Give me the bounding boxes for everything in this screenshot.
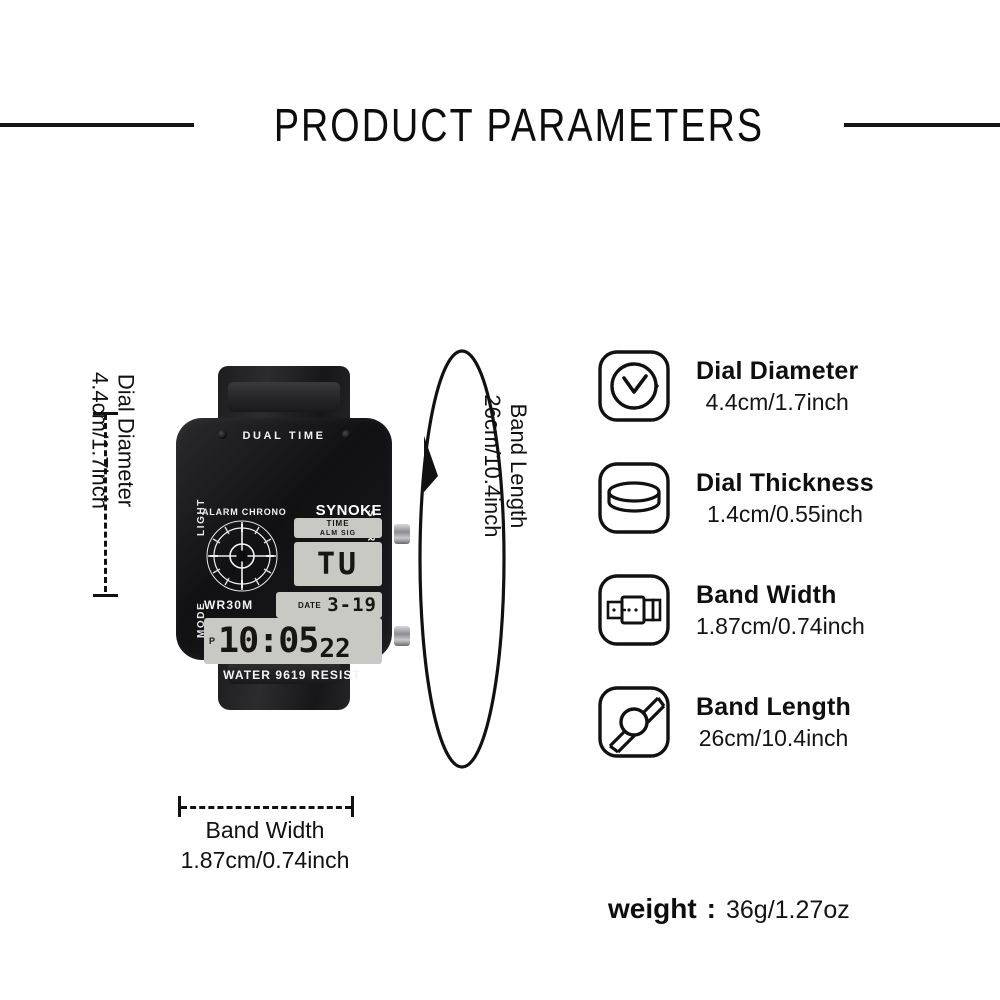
weight-label: weight <box>608 893 697 925</box>
band-width-callout-value: 1.87cm/0.74inch <box>140 846 390 876</box>
spec-title-band-width: Band Width <box>696 580 865 610</box>
water-rating-label: WR30M <box>204 598 253 612</box>
title-rule-right <box>844 123 1000 127</box>
spec-value-dial-thickness: 1.4cm/0.55inch <box>696 501 874 529</box>
dimension-cap-right <box>351 796 354 817</box>
spec-text-band-length: Band Length 26cm/10.4inch <box>696 692 851 753</box>
band-width-dimension-line <box>178 798 354 818</box>
water-resist-label: WATER 9619 RESIST <box>202 668 382 682</box>
spec-value-dial-diameter: 4.4cm/1.7inch <box>696 389 858 417</box>
band-width-callout-title: Band Width <box>140 816 390 846</box>
lcd-alarm-label: ALM SIG <box>320 530 356 537</box>
spec-title-dial-diameter: Dial Diameter <box>696 356 858 386</box>
title-rule-left <box>0 123 194 127</box>
lcd-mode-bar: TIME ALM SIG <box>294 518 382 538</box>
spec-value-band-length: 26cm/10.4inch <box>696 725 851 753</box>
watch-product-image: DUAL TIME EL LUMINOUS LIGHT MODE START R… <box>168 366 400 710</box>
alarm-chrono-label: ALARM CHRONO <box>202 507 287 517</box>
page-title: PRODUCT PARAMETERS <box>274 98 764 152</box>
strap-keeper-top <box>228 382 340 412</box>
dimension-cap-bottom <box>93 594 118 597</box>
lcd-pm-indicator: P <box>209 636 215 646</box>
clock-icon <box>596 348 672 424</box>
strap-diagonal-icon <box>596 684 672 760</box>
spec-row-band-width: Band Width 1.87cm/0.74inch <box>596 554 976 666</box>
dimension-dashed-line-horizontal <box>181 806 351 809</box>
spec-text-dial-thickness: Dial Thickness 1.4cm/0.55inch <box>696 468 874 529</box>
lcd-mode-label: TIME <box>326 520 349 528</box>
band-width-callout-label: Band Width 1.87cm/0.74inch <box>140 816 390 876</box>
spec-text-band-width: Band Width 1.87cm/0.74inch <box>696 580 865 641</box>
buckle-icon <box>596 572 672 648</box>
spec-title-band-length: Band Length <box>696 692 851 722</box>
brand-name: SYNOKE <box>316 502 382 519</box>
bezel-screw-top-right <box>342 430 351 439</box>
lcd-date-value: 3-19 <box>327 594 377 616</box>
weight-separator: : <box>707 893 716 925</box>
dial-brand-row: ALARM CHRONO SYNOKE <box>202 502 382 519</box>
spec-title-dial-thickness: Dial Thickness <box>696 468 874 498</box>
bezel-screw-top-left <box>218 430 227 439</box>
weight-value: 36g/1.27oz <box>726 896 850 925</box>
weight-row: weight : 36g/1.27oz <box>608 893 850 925</box>
lcd-time-value: 10:05 <box>218 624 318 659</box>
dial-diameter-callout-title: Dial Diameter <box>113 346 139 536</box>
spec-value-band-width: 1.87cm/0.74inch <box>696 613 865 641</box>
lcd-day-display: TU <box>294 542 382 586</box>
bezel-text-top: DUAL TIME <box>176 430 392 442</box>
spec-row-dial-thickness: Dial Thickness 1.4cm/0.55inch <box>596 442 976 554</box>
chronograph-subdial <box>204 518 280 594</box>
lcd-date-display: DATE 3-19 <box>276 592 382 618</box>
lcd-day-value: TU <box>317 547 359 582</box>
band-length-loop-indicator <box>400 344 520 774</box>
spec-row-dial-diameter: Dial Diameter 4.4cm/1.7inch <box>596 330 976 442</box>
watch-case: DUAL TIME EL LUMINOUS LIGHT MODE START R… <box>176 418 392 660</box>
cylinder-icon <box>596 460 672 536</box>
watch-dial: ALARM CHRONO SYNOKE <box>202 502 382 682</box>
lcd-date-label: DATE <box>298 601 321 610</box>
dial-diameter-callout-value: 4.4cm/1.7inch <box>87 346 113 536</box>
spec-list: Dial Diameter 4.4cm/1.7inch Dial Thickne… <box>596 330 976 778</box>
page-header: PRODUCT PARAMETERS <box>0 95 1000 155</box>
spec-text-dial-diameter: Dial Diameter 4.4cm/1.7inch <box>696 356 858 417</box>
spec-row-band-length: Band Length 26cm/10.4inch <box>596 666 976 778</box>
dial-diameter-callout-label: Dial Diameter 4.4cm/1.7inch <box>87 346 138 536</box>
lcd-seconds-value: 22 <box>319 636 350 662</box>
lcd-time-display: P 10:05 22 <box>204 618 382 664</box>
